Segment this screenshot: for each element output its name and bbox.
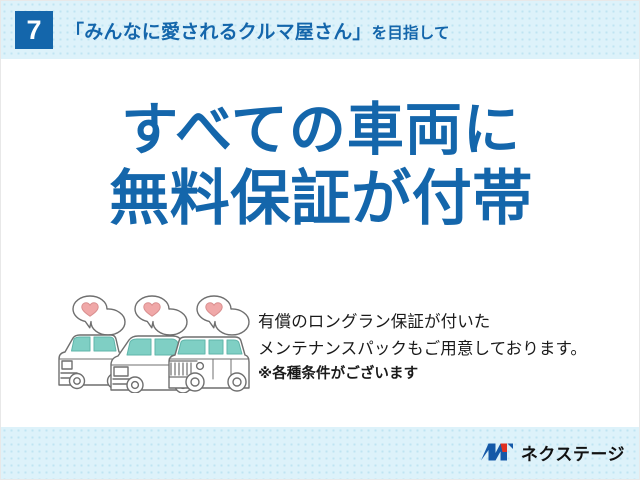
brand-logo: ネクステージ [480,439,625,465]
section-number-badge: 7 [15,11,53,49]
header-content: 7 「みんなに愛されるクルマ屋さん」 を目指して [1,1,640,59]
heart-bubble-2 [135,296,187,335]
car-3-suv [169,337,249,391]
nextage-n-mark-icon [480,440,514,464]
footer-bar: ネクステージ [1,427,640,479]
headline-line-2: 無料保証が付帯 [1,164,640,235]
heart-bubble-3 [197,296,249,335]
promo-banner: 7 「みんなに愛されるクルマ屋さん」 を目指して すべての車両に 無料保証が付帯 [0,0,640,480]
body-copy-note: ※各種条件がございます [258,362,634,387]
body-copy-line-1: 有償のロングラン保証が付いた [258,309,634,336]
heart-bubble-1 [73,296,125,335]
header-title-suffix: を目指して [372,21,450,43]
body-copy: 有償のロングラン保証が付いた メンテナンスパックもご用意しております。 ※各種条… [258,309,634,387]
cars-illustration-svg [53,293,253,393]
cars-illustration [53,293,253,393]
body-copy-line-2: メンテナンスパックもご用意しております。 [258,336,634,363]
headline-line-1: すべての車両に [1,97,640,164]
main-headline: すべての車両に 無料保証が付帯 [1,97,640,235]
header-title: 「みんなに愛されるクルマ屋さん」 を目指して [65,17,450,44]
header-bar: 7 「みんなに愛されるクルマ屋さん」 を目指して [1,1,640,59]
header-title-quoted: 「みんなに愛されるクルマ屋さん」 [65,17,372,44]
brand-logo-text: ネクステージ [521,440,625,465]
